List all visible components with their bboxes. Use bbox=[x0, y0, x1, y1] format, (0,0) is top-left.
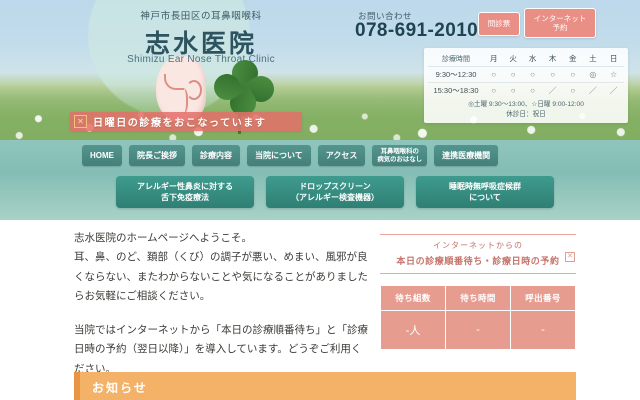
schedule-row0-wed: ○ bbox=[523, 67, 542, 83]
waiting-status-table: 待ち組数 待ち時間 呼出番号 -人 - - bbox=[380, 285, 576, 350]
nav-item-greeting[interactable]: 院長ご挨拶 bbox=[129, 145, 185, 166]
nav-item-ent-diseases[interactable]: 耳鼻咽喉科の病気のおはなし bbox=[372, 145, 427, 166]
news-section-header: お知らせ bbox=[74, 372, 576, 400]
schedule-row0-sun: ☆ bbox=[603, 67, 624, 83]
hero-banner: 神戸市長田区の耳鼻咽喉科 志水医院 Shimizu Ear Nose Throa… bbox=[0, 0, 640, 140]
sunday-notice-text: 日曜日の診療をおこなっています bbox=[93, 114, 267, 129]
schedule-row1-wed: ○ bbox=[523, 83, 542, 99]
notice-mark-icon: ✕ bbox=[74, 115, 87, 128]
clinic-name-english: Shimizu Ear Nose Throat Clinic bbox=[96, 54, 306, 65]
navigation-bar: HOME 院長ご挨拶 診療内容 当院について アクセス 耳鼻咽喉科の病気のおはな… bbox=[0, 140, 640, 220]
reservation-panel: インターネットからの 本日の診療順番待ち・診療日時の予約 ✕ 待ち組数 待ち時間… bbox=[380, 234, 576, 350]
waiting-value-call-number: - bbox=[511, 311, 576, 350]
schedule-row1-sat: ／ bbox=[582, 83, 603, 99]
service-button-drop-screen[interactable]: ドロップスクリーン（アレルギー検査機器） bbox=[266, 176, 404, 208]
intro-text: 志水医院のホームページへようこそ。耳、鼻、のど、頚部（くび）の調子が悪い、めまい… bbox=[74, 229, 370, 393]
schedule-row0-mon: ○ bbox=[484, 67, 503, 83]
intro-paragraph-2: 当院ではインターネットから「本日の診療順番待ち」と「診療日時の予約（翌日以降）」… bbox=[74, 321, 370, 379]
sunday-consultation-notice[interactable]: ✕ 日曜日の診療をおこなっています bbox=[70, 112, 302, 131]
service-button-sleep-apnea[interactable]: 睡眠時無呼吸症候群について bbox=[416, 176, 554, 208]
schedule-row1-sun: ／ bbox=[603, 83, 624, 99]
schedule-row0-time: 9:30〜12:30 bbox=[428, 67, 484, 83]
questionnaire-button[interactable]: 問診票 bbox=[478, 12, 520, 36]
schedule-note-line2: 休診日：祝日 bbox=[428, 110, 624, 120]
schedule-row1-tue: ○ bbox=[503, 83, 522, 99]
table-row: 15:30〜18:30 ○ ○ ○ ／ ○ ／ ／ bbox=[428, 83, 624, 99]
reservation-header-line2: 本日の診療順番待ち・診療日時の予約 bbox=[382, 254, 574, 267]
waiting-header-groups: 待ち組数 bbox=[381, 286, 446, 311]
schedule-row1-time: 15:30〜18:30 bbox=[428, 83, 484, 99]
internet-reservation-button[interactable]: インターネット 予約 bbox=[524, 8, 596, 38]
reservation-header: インターネットからの 本日の診療順番待ち・診療日時の予約 ✕ bbox=[380, 234, 576, 274]
nav-item-access[interactable]: アクセス bbox=[318, 145, 366, 166]
schedule-day-sun: 日 bbox=[603, 51, 624, 67]
schedule-row1-mon: ○ bbox=[484, 83, 503, 99]
nav-item-services[interactable]: 診療内容 bbox=[192, 145, 240, 166]
schedule-day-mon: 月 bbox=[484, 51, 503, 67]
schedule-day-fri: 金 bbox=[563, 51, 582, 67]
reservation-header-line1: インターネットからの bbox=[382, 240, 574, 251]
reserve-button-line1: インターネット bbox=[534, 14, 587, 23]
schedule-day-thu: 木 bbox=[542, 51, 563, 67]
schedule-day-sat: 土 bbox=[582, 51, 603, 67]
schedule-row0-fri: ○ bbox=[563, 67, 582, 83]
news-accent-bar bbox=[74, 372, 80, 400]
intro-paragraph-1: 志水医院のホームページへようこそ。耳、鼻、のど、頚部（くび）の調子が悪い、めまい… bbox=[74, 229, 370, 307]
clinic-subtitle: 神戸市長田区の耳鼻咽喉科 bbox=[96, 8, 306, 22]
table-row: -人 - - bbox=[381, 311, 576, 350]
waiting-value-groups: -人 bbox=[381, 311, 446, 350]
schedule-table: 診療時間 月 火 水 木 金 土 日 9:30〜12:30 ○ ○ bbox=[428, 51, 624, 98]
news-title: お知らせ bbox=[92, 379, 148, 396]
schedule-row1-thu: ／ bbox=[542, 83, 563, 99]
main-content: 志水医院のホームページへようこそ。耳、鼻、のど、頚部（くび）の調子が悪い、めまい… bbox=[0, 220, 640, 400]
reservation-mark-icon: ✕ bbox=[565, 252, 575, 262]
schedule-day-wed: 水 bbox=[523, 51, 542, 67]
reserve-button-line2: 予約 bbox=[553, 23, 568, 32]
schedule-note-line1: ◎土曜 9:30〜13:00、☆日曜 9:00-12:00 bbox=[428, 100, 624, 110]
main-nav: HOME 院長ご挨拶 診療内容 当院について アクセス 耳鼻咽喉科の病気のおはな… bbox=[82, 145, 498, 166]
schedule-row0-tue: ○ bbox=[503, 67, 522, 83]
clinic-hours-table: 診療時間 月 火 水 木 金 土 日 9:30〜12:30 ○ ○ bbox=[424, 48, 628, 123]
schedule-day-tue: 火 bbox=[503, 51, 522, 67]
service-button-sublingual-immunotherapy[interactable]: アレルギー性鼻炎に対する舌下免疫療法 bbox=[116, 176, 254, 208]
waiting-header-call-number: 呼出番号 bbox=[511, 286, 576, 311]
telephone-number[interactable]: 078-691-2010 bbox=[355, 20, 478, 42]
nav-item-home[interactable]: HOME bbox=[82, 145, 122, 166]
schedule-row0-thu: ○ bbox=[542, 67, 563, 83]
nav-item-about[interactable]: 当院について bbox=[247, 145, 311, 166]
schedule-row0-sat: ◎ bbox=[582, 67, 603, 83]
page-root: 神戸市長田区の耳鼻咽喉科 志水医院 Shimizu Ear Nose Throa… bbox=[0, 0, 640, 400]
schedule-header-row: 診療時間 月 火 水 木 金 土 日 bbox=[428, 51, 624, 67]
schedule-row1-fri: ○ bbox=[563, 83, 582, 99]
nav-item-partner-institutions[interactable]: 連携医療機関 bbox=[434, 145, 498, 166]
schedule-time-header: 診療時間 bbox=[428, 51, 484, 67]
waiting-header-row: 待ち組数 待ち時間 呼出番号 bbox=[381, 286, 576, 311]
service-buttons: アレルギー性鼻炎に対する舌下免疫療法 ドロップスクリーン（アレルギー検査機器） … bbox=[116, 176, 554, 208]
schedule-notes: ◎土曜 9:30〜13:00、☆日曜 9:00-12:00 休診日：祝日 bbox=[428, 98, 624, 119]
table-row: 9:30〜12:30 ○ ○ ○ ○ ○ ◎ ☆ bbox=[428, 67, 624, 83]
waiting-header-time: 待ち時間 bbox=[446, 286, 511, 311]
waiting-value-time: - bbox=[446, 311, 511, 350]
